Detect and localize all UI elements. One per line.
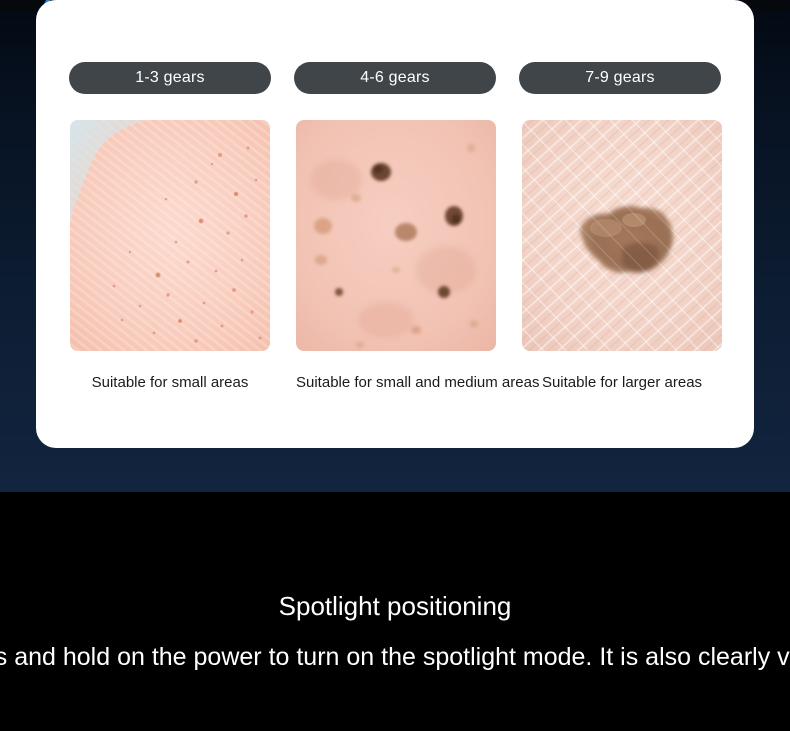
thumbnail-skin-moles-medium[interactable] [296, 120, 496, 351]
strip-segment-dark-left [0, 0, 36, 11]
thumbnail-skin-freckles-small[interactable] [70, 120, 270, 351]
skin-lesion-large-image [522, 120, 722, 351]
gear-selection-card: 1-3 gears 4-6 gears 7-9 gears [36, 0, 754, 448]
spotlight-section: Spotlight positioning Press and hold on … [0, 492, 790, 731]
spotlight-title: Spotlight positioning [0, 590, 790, 622]
gear-caption-7-9: Suitable for larger areas [522, 372, 722, 396]
navy-background-region: 1-3 gears 4-6 gears 7-9 gears [0, 0, 790, 492]
gear-caption-1-3: Suitable for small areas [70, 372, 270, 396]
thumbnail-skin-lesion-large[interactable] [522, 120, 722, 351]
gear-thumbnail-row [70, 120, 722, 351]
spotlight-description: Press and hold on the power to turn on t… [0, 640, 790, 674]
skin-moles-medium-image [296, 120, 496, 351]
gear-caption-4-6: Suitable for small and medium areas [296, 372, 496, 396]
gear-pill-4-6[interactable]: 4-6 gears [294, 62, 496, 94]
gear-pill-7-9[interactable]: 7-9 gears [519, 62, 721, 94]
gear-pill-1-3[interactable]: 1-3 gears [69, 62, 271, 94]
screen-root: 1-3 gears 4-6 gears 7-9 gears [0, 0, 790, 731]
skin-freckles-small-image [70, 120, 270, 351]
gear-pill-row: 1-3 gears 4-6 gears 7-9 gears [69, 62, 721, 94]
gear-caption-row: Suitable for small areas Suitable for sm… [70, 372, 722, 396]
